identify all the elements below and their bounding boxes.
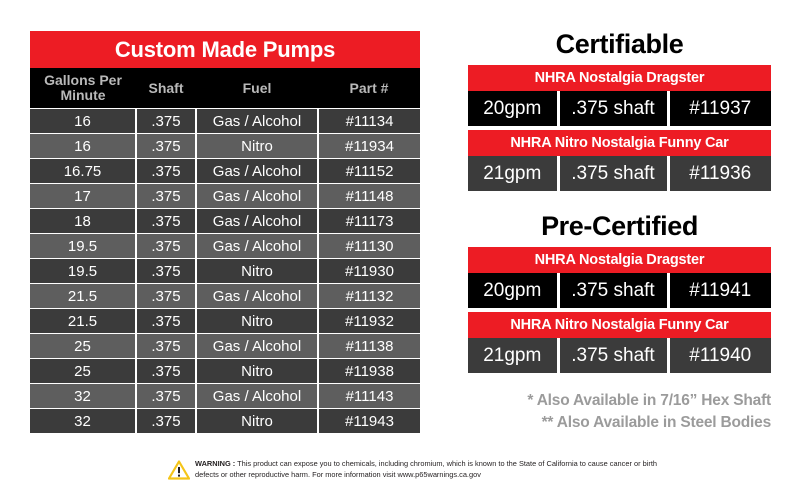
cell-shaft: .375 xyxy=(136,259,196,284)
cell-shaft: .375 xyxy=(136,284,196,309)
cell-part-number: #11138 xyxy=(318,334,420,359)
cell-gallons-per-minute: 16.75 xyxy=(30,159,136,184)
table-header-row: Gallons Per Minute Shaft Fuel Part # xyxy=(30,68,420,109)
cell-part-number: #11130 xyxy=(318,234,420,259)
table-row: 18.375Gas / Alcohol#11173 xyxy=(30,209,420,234)
cell-shaft: .375 xyxy=(136,209,196,234)
cell-fuel: Nitro xyxy=(196,309,318,334)
cell-fuel: Gas / Alcohol xyxy=(196,184,318,209)
cell-gpm: 21gpm xyxy=(468,156,558,191)
column-header-shaft: Shaft xyxy=(136,68,196,109)
cell-fuel: Nitro xyxy=(196,409,318,434)
column-header-part: Part # xyxy=(318,68,420,109)
column-header-gallons-per-minute: Gallons Per Minute xyxy=(30,68,136,109)
prop65-warning-body: This product can expose you to chemicals… xyxy=(195,459,657,479)
cell-fuel: Gas / Alcohol xyxy=(196,334,318,359)
certifiable-class-name: NHRA Nostalgia Dragster xyxy=(468,65,771,91)
cell-gallons-per-minute: 32 xyxy=(30,384,136,409)
footnote-line-1: * Also Available in 7/16” Hex Shaft xyxy=(468,390,771,412)
prop65-warning-text: WARNING : This product can expose you to… xyxy=(195,459,668,480)
table-row: 16.75.375Gas / Alcohol#11152 xyxy=(30,159,420,184)
certifiable-title: Certifiable xyxy=(468,28,771,60)
cell-shaft: .375 xyxy=(136,134,196,159)
certifiable-table-row: 20gpm.375 shaft#11937 xyxy=(468,91,771,126)
custom-made-pumps-panel: Custom Made Pumps Gallons Per Minute Sha… xyxy=(30,31,420,433)
certifiable-panel: Certifiable NHRA Nostalgia Dragster20gpm… xyxy=(468,28,771,195)
precertified-table-row: 20gpm.375 shaft#11941 xyxy=(468,273,771,308)
table-row: 19.5.375Nitro#11930 xyxy=(30,259,420,284)
table-row: 17.375Gas / Alcohol#11148 xyxy=(30,184,420,209)
cell-fuel: Gas / Alcohol xyxy=(196,209,318,234)
table-row: 32.375Nitro#11943 xyxy=(30,409,420,434)
cell-gallons-per-minute: 16 xyxy=(30,134,136,159)
table-row: 16.375Gas / Alcohol#11134 xyxy=(30,109,420,134)
cell-part-number: #11937 xyxy=(668,91,771,126)
cell-gallons-per-minute: 19.5 xyxy=(30,234,136,259)
cell-gallons-per-minute: 17 xyxy=(30,184,136,209)
certifiable-class-name: NHRA Nitro Nostalgia Funny Car xyxy=(468,130,771,156)
footnote-line-2: ** Also Available in Steel Bodies xyxy=(468,412,771,434)
cell-part-number: #11943 xyxy=(318,409,420,434)
precertified-table-row: 21gpm.375 shaft#11940 xyxy=(468,338,771,373)
cell-fuel: Nitro xyxy=(196,259,318,284)
table-row: 25.375Gas / Alcohol#11138 xyxy=(30,334,420,359)
cell-part-number: #11930 xyxy=(318,259,420,284)
cell-shaft: .375 xyxy=(136,309,196,334)
table-row: 25.375Nitro#11938 xyxy=(30,359,420,384)
cell-part-number: #11936 xyxy=(668,156,771,191)
cell-shaft: .375 xyxy=(136,334,196,359)
precertified-table: NHRA Nostalgia Dragster20gpm.375 shaft#1… xyxy=(468,247,771,308)
cell-fuel: Nitro xyxy=(196,359,318,384)
table-row: 32.375Gas / Alcohol#11143 xyxy=(30,384,420,409)
cell-gallons-per-minute: 25 xyxy=(30,334,136,359)
cell-shaft: .375 xyxy=(136,384,196,409)
certifiable-table-header-row: NHRA Nitro Nostalgia Funny Car xyxy=(468,130,771,156)
cell-gallons-per-minute: 21.5 xyxy=(30,284,136,309)
cell-gallons-per-minute: 32 xyxy=(30,409,136,434)
cell-fuel: Gas / Alcohol xyxy=(196,284,318,309)
main-table-title: Custom Made Pumps xyxy=(30,31,420,68)
cell-shaft: .375 xyxy=(136,359,196,384)
cell-gpm: 20gpm xyxy=(468,273,558,308)
certifiable-table-row: 21gpm.375 shaft#11936 xyxy=(468,156,771,191)
cell-part-number: #11173 xyxy=(318,209,420,234)
cell-shaft: .375 shaft xyxy=(558,338,668,373)
cell-part-number: #11152 xyxy=(318,159,420,184)
footnotes: * Also Available in 7/16” Hex Shaft ** A… xyxy=(468,390,771,434)
certifiable-table: NHRA Nitro Nostalgia Funny Car21gpm.375 … xyxy=(468,130,771,191)
cell-shaft: .375 shaft xyxy=(558,273,668,308)
cell-part-number: #11940 xyxy=(668,338,771,373)
cell-shaft: .375 shaft xyxy=(558,156,668,191)
cell-gallons-per-minute: 18 xyxy=(30,209,136,234)
prop65-warning: WARNING : This product can expose you to… xyxy=(168,459,668,485)
table-row: 21.5.375Nitro#11932 xyxy=(30,309,420,334)
cell-shaft: .375 xyxy=(136,234,196,259)
precertified-table-header-row: NHRA Nitro Nostalgia Funny Car xyxy=(468,312,771,338)
precertified-class-name: NHRA Nitro Nostalgia Funny Car xyxy=(468,312,771,338)
cell-part-number: #11938 xyxy=(318,359,420,384)
cell-fuel: Gas / Alcohol xyxy=(196,384,318,409)
cell-part-number: #11932 xyxy=(318,309,420,334)
cell-shaft: .375 xyxy=(136,159,196,184)
precertified-table: NHRA Nitro Nostalgia Funny Car21gpm.375 … xyxy=(468,312,771,373)
cell-gpm: 20gpm xyxy=(468,91,558,126)
cell-gallons-per-minute: 21.5 xyxy=(30,309,136,334)
cell-shaft: .375 shaft xyxy=(558,91,668,126)
custom-made-pumps-table: Gallons Per Minute Shaft Fuel Part # 16.… xyxy=(30,68,420,433)
certifiable-table: NHRA Nostalgia Dragster20gpm.375 shaft#1… xyxy=(468,65,771,126)
cell-shaft: .375 xyxy=(136,109,196,134)
table-row: 21.5.375Gas / Alcohol#11132 xyxy=(30,284,420,309)
precertified-table-header-row: NHRA Nostalgia Dragster xyxy=(468,247,771,273)
table-row: 16.375Nitro#11934 xyxy=(30,134,420,159)
cell-gpm: 21gpm xyxy=(468,338,558,373)
precertified-class-name: NHRA Nostalgia Dragster xyxy=(468,247,771,273)
precertified-panel: Pre-Certified NHRA Nostalgia Dragster20g… xyxy=(468,210,771,377)
cell-gallons-per-minute: 25 xyxy=(30,359,136,384)
precertified-title: Pre-Certified xyxy=(468,210,771,242)
cell-fuel: Gas / Alcohol xyxy=(196,109,318,134)
cell-gallons-per-minute: 19.5 xyxy=(30,259,136,284)
cell-fuel: Gas / Alcohol xyxy=(196,159,318,184)
cell-part-number: #11134 xyxy=(318,109,420,134)
cell-part-number: #11132 xyxy=(318,284,420,309)
cell-shaft: .375 xyxy=(136,409,196,434)
cell-part-number: #11148 xyxy=(318,184,420,209)
warning-triangle-icon xyxy=(168,460,190,485)
cell-part-number: #11143 xyxy=(318,384,420,409)
certifiable-table-header-row: NHRA Nostalgia Dragster xyxy=(468,65,771,91)
cell-part-number: #11941 xyxy=(668,273,771,308)
cell-fuel: Nitro xyxy=(196,134,318,159)
cell-gallons-per-minute: 16 xyxy=(30,109,136,134)
prop65-warning-label: WARNING : xyxy=(195,459,235,468)
cell-fuel: Gas / Alcohol xyxy=(196,234,318,259)
column-header-fuel: Fuel xyxy=(196,68,318,109)
cell-part-number: #11934 xyxy=(318,134,420,159)
table-row: 19.5.375Gas / Alcohol#11130 xyxy=(30,234,420,259)
cell-shaft: .375 xyxy=(136,184,196,209)
